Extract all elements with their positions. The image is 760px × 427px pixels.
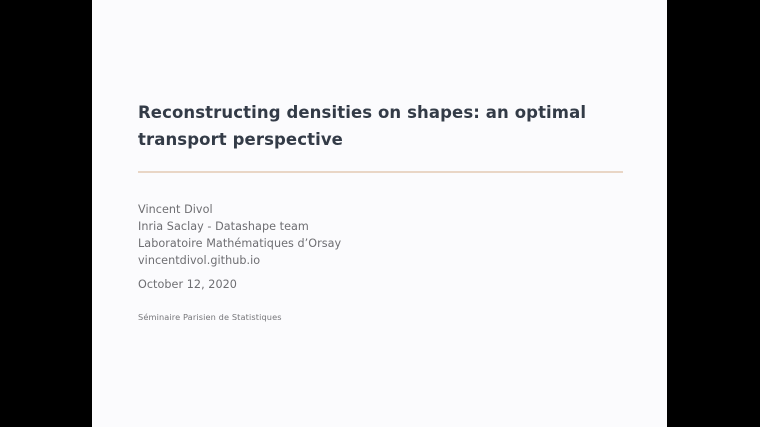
title-divider-rule: [138, 171, 623, 173]
letterbox-bar-left: [0, 0, 92, 427]
slide-title: Reconstructing densities on shapes: an o…: [138, 100, 623, 153]
author-name: Vincent Divol: [138, 201, 623, 218]
author-affiliation: Inria Saclay - Datashape team: [138, 218, 623, 235]
presentation-date: October 12, 2020: [138, 278, 623, 291]
letterbox-bar-right: [667, 0, 760, 427]
presentation-venue: Séminaire Parisien de Statistiques: [138, 312, 623, 322]
video-player-viewport: Reconstructing densities on shapes: an o…: [0, 0, 760, 427]
author-website: vincentdivol.github.io: [138, 252, 623, 269]
slide-content-area: Reconstructing densities on shapes: an o…: [138, 0, 623, 427]
author-block: Vincent Divol Inria Saclay - Datashape t…: [138, 201, 623, 322]
author-lab: Laboratoire Mathématiques d’Orsay: [138, 235, 623, 252]
presentation-slide: Reconstructing densities on shapes: an o…: [92, 0, 667, 427]
title-block: Reconstructing densities on shapes: an o…: [138, 100, 623, 153]
